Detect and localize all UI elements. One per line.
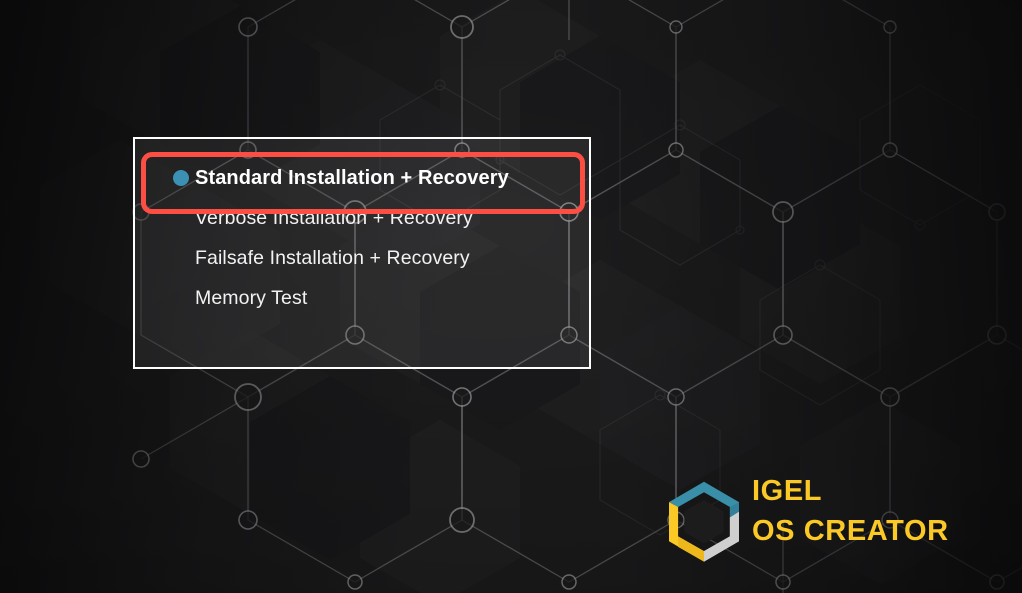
boot-menu-item-label: Standard Installation + Recovery (195, 167, 509, 189)
boot-screen: Standard Installation + Recovery Verbose… (0, 0, 1022, 593)
boot-menu-item-label: Failsafe Installation + Recovery (195, 247, 470, 269)
selected-bullet-icon (173, 170, 189, 186)
boot-menu-item-failsafe[interactable]: Failsafe Installation + Recovery (135, 238, 589, 278)
igel-os-creator-logo: IGEL OS CREATOR (662, 477, 962, 565)
igel-hexagon-logo-icon (662, 479, 746, 563)
boot-menu-list: Standard Installation + Recovery Verbose… (135, 139, 589, 318)
boot-menu-item-memory-test[interactable]: Memory Test (135, 278, 589, 318)
boot-menu-item-verbose[interactable]: Verbose Installation + Recovery (135, 198, 589, 238)
logo-wordmark: IGEL OS CREATOR (752, 477, 949, 546)
logo-inner-hole (684, 500, 723, 543)
boot-menu-item-label: Memory Test (195, 287, 307, 309)
logo-line-igel: IGEL (752, 477, 949, 506)
boot-menu: Standard Installation + Recovery Verbose… (133, 137, 591, 369)
boot-menu-item-standard[interactable]: Standard Installation + Recovery (135, 158, 589, 198)
boot-menu-item-label: Verbose Installation + Recovery (195, 207, 473, 229)
logo-line-os-creator: OS CREATOR (752, 517, 949, 546)
